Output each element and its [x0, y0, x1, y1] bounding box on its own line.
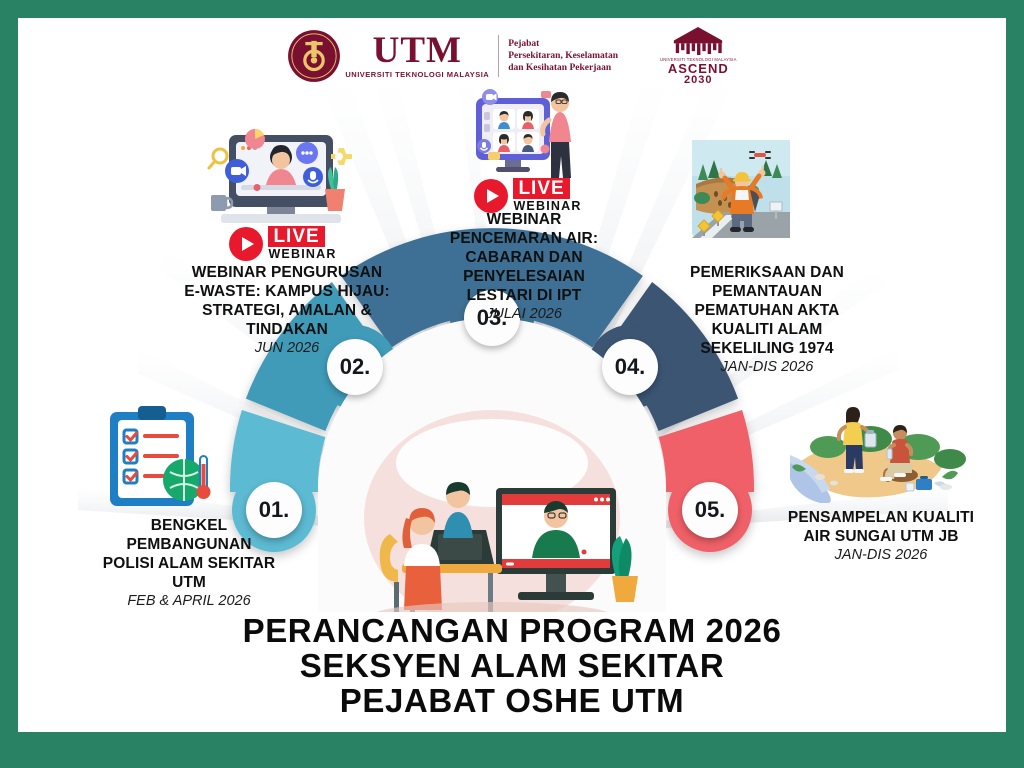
program-item-04-title: PEMERIKSAAN DAN PEMANTAUAN PEMATUHAN AKT…	[652, 263, 882, 358]
poster-main-title: PERANCANGAN PROGRAM 2026 SEKSYEN ALAM SE…	[18, 613, 1006, 718]
program-item-01: BENGKEL PEMBANGUNAN POLISI ALAM SEKITAR …	[74, 516, 304, 609]
step-badge-05[interactable]: 05.	[682, 482, 738, 538]
poster-root: UTM UNIVERSITI TEKNOLOGI MALAYSIA Pejaba…	[0, 0, 1024, 768]
play-icon-03	[474, 179, 508, 213]
program-item-02-title: WEBINAR PENGURUSAN E-WASTE: KAMPUS HIJAU…	[160, 263, 414, 339]
program-item-04: PEMERIKSAAN DAN PEMANTAUAN PEMATUHAN AKT…	[652, 263, 882, 375]
program-item-03-title: WEBINAR PENCEMARAN AIR: CABARAN DAN PENY…	[414, 210, 634, 305]
program-item-05-date: JAN-DIS 2026	[766, 547, 996, 563]
program-item-03: WEBINAR PENCEMARAN AIR: CABARAN DAN PENY…	[414, 210, 634, 322]
program-item-02-date: JUN 2026	[160, 340, 414, 356]
live-label-03: LIVE	[513, 178, 569, 199]
webinar-label-02: WEBINAR	[268, 247, 336, 262]
live-webinar-badge-03: LIVE WEBINAR	[464, 178, 592, 214]
program-item-03-date: JULAI 2026	[414, 306, 634, 322]
program-item-01-title: BENGKEL PEMBANGUNAN POLISI ALAM SEKITAR …	[74, 516, 304, 592]
river-water-sampling-illustration	[790, 403, 970, 503]
live-webinar-badge-02: LIVE WEBINAR	[223, 226, 343, 262]
program-item-01-date: FEB & APRIL 2026	[74, 593, 304, 609]
program-item-04-date: JAN-DIS 2026	[652, 359, 882, 375]
program-item-02: WEBINAR PENGURUSAN E-WASTE: KAMPUS HIJAU…	[160, 263, 414, 356]
program-item-05: PENSAMPELAN KUALITI AIR SUNGAI UTM JB JA…	[766, 508, 996, 563]
desktop-webinar-presenter-illustration	[203, 123, 363, 238]
step-badge-04[interactable]: 04.	[602, 339, 658, 395]
program-item-05-title: PENSAMPELAN KUALITI AIR SUNGAI UTM JB	[766, 508, 996, 546]
field-inspector-drone-photo	[692, 140, 790, 238]
live-label-02: LIVE	[268, 226, 324, 247]
clipboard-checklist-globe-icon	[100, 406, 220, 512]
poster-canvas: UTM UNIVERSITI TEKNOLOGI MALAYSIA Pejaba…	[18, 18, 1006, 732]
play-icon-02	[229, 227, 263, 261]
